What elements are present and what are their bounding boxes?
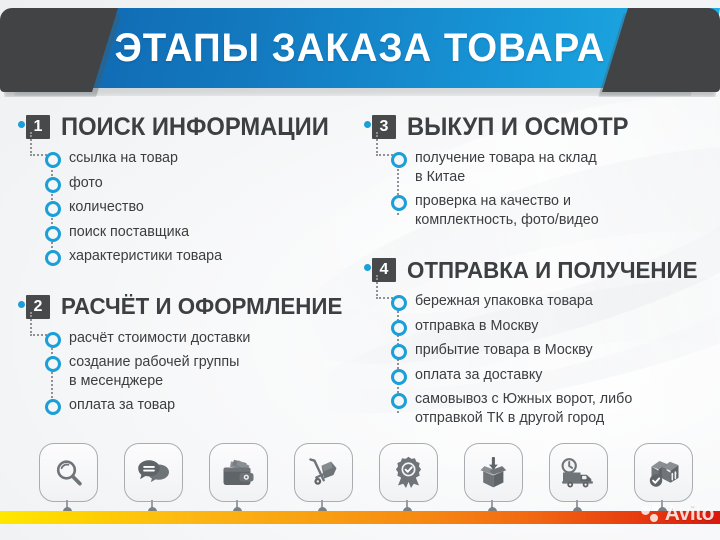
quality-badge-icon: [379, 443, 438, 502]
list-item-label: оплата за товар: [69, 397, 175, 413]
section-4-header: 4 ОТПРАВКА И ПОЛУЧЕНИЕ: [372, 255, 712, 285]
avito-watermark: Avito: [641, 503, 714, 524]
bullet-ring-icon: [391, 195, 407, 211]
section-2-number: 2: [26, 295, 50, 319]
gradient-timeline-bar: [0, 511, 720, 524]
list-item-label: прибытие товара в Москву: [415, 342, 593, 358]
bullet-ring-icon: [45, 332, 61, 348]
list-item: оплата за товар: [42, 396, 366, 415]
list-item-label: создание рабочей группы в месенджере: [69, 354, 239, 389]
section-2: 2 РАСЧЁТ И ОФОРМЛЕНИЕ расчёт стоимости д…: [26, 292, 366, 415]
section-3-number: 3: [372, 115, 396, 139]
list-item: характеристики товара: [42, 247, 366, 266]
hand-truck-icon: [294, 443, 353, 502]
list-item-label: ссылка на товар: [69, 150, 178, 166]
list-item: ссылка на товар: [42, 149, 366, 168]
lead-dot-icon: [364, 264, 371, 271]
list-item: поиск поставщика: [42, 223, 366, 242]
section-2-items: расчёт стоимости доставки создание рабоч…: [42, 329, 366, 415]
section-1-title: ПОИСК ИНФОРМАЦИИ: [61, 115, 329, 140]
magnifier-icon: [39, 443, 98, 502]
bullet-ring-icon: [45, 226, 61, 242]
list-item-label: оплата за доставку: [415, 367, 542, 383]
list-item-label: самовывоз с Южных ворот, либо отправкой …: [415, 391, 632, 426]
bullet-ring-icon: [391, 393, 407, 409]
lead-dot-icon: [18, 121, 25, 128]
section-2-title: РАСЧЁТ И ОФОРМЛЕНИЕ: [61, 294, 342, 319]
section-3: 3 ВЫКУП И ОСМОТР получение товара на скл…: [372, 112, 712, 229]
list-item: оплата за доставку: [388, 366, 712, 385]
lead-dot-icon: [364, 121, 371, 128]
section-4: 4 ОТПРАВКА И ПОЛУЧЕНИЕ бережная упаковка…: [372, 255, 712, 427]
section-4-title: ОТПРАВКА И ПОЛУЧЕНИЕ: [407, 258, 697, 283]
list-item-label: количество: [69, 199, 144, 215]
bullet-ring-icon: [391, 344, 407, 360]
section-2-header: 2 РАСЧЁТ И ОФОРМЛЕНИЕ: [26, 292, 366, 322]
section-1-items: ссылка на товар фото количество поиск по…: [42, 149, 366, 266]
boxes-check-icon: [634, 443, 693, 502]
list-item: отправка в Москву: [388, 317, 712, 336]
list-item: фото: [42, 174, 366, 193]
bullet-ring-icon: [391, 295, 407, 311]
section-1-header: 1 ПОИСК ИНФОРМАЦИИ: [26, 112, 366, 142]
list-item-label: фото: [69, 175, 103, 191]
bullet-ring-icon: [45, 177, 61, 193]
bullet-ring-icon: [391, 152, 407, 168]
list-item: количество: [42, 198, 366, 217]
section-4-number: 4: [372, 258, 396, 282]
chat-bubbles-icon: [124, 443, 183, 502]
list-item: самовывоз с Южных ворот, либо отправкой …: [388, 390, 712, 427]
list-item-label: расчёт стоимости доставки: [69, 330, 250, 346]
list-item: бережная упаковка товара: [388, 292, 712, 311]
box-packing-icon: [464, 443, 523, 502]
list-item: создание рабочей группы в месенджере: [42, 353, 366, 390]
section-3-header: 3 ВЫКУП И ОСМОТР: [372, 112, 712, 142]
wallet-icon: [209, 443, 268, 502]
avito-logo-icon: [641, 504, 663, 524]
section-1: 1 ПОИСК ИНФОРМАЦИИ ссылка на товар фото …: [26, 112, 366, 266]
right-column: 3 ВЫКУП И ОСМОТР получение товара на скл…: [372, 112, 712, 427]
list-item-label: получение товара на склад в Китае: [415, 150, 597, 185]
header-banner: ЭТАПЫ ЗАКАЗА ТОВАРА: [0, 8, 720, 94]
list-item-label: проверка на качество и комплектность, фо…: [415, 193, 599, 228]
page-title: ЭТАПЫ ЗАКАЗА ТОВАРА: [14, 8, 705, 88]
bullet-ring-icon: [391, 320, 407, 336]
section-1-number: 1: [26, 115, 50, 139]
process-icon-row: [0, 443, 720, 505]
section-3-title: ВЫКУП И ОСМОТР: [407, 115, 629, 140]
bullet-ring-icon: [45, 201, 61, 217]
list-item: прибытие товара в Москву: [388, 341, 712, 360]
list-item-label: поиск поставщика: [69, 224, 189, 240]
lead-dot-icon: [18, 301, 25, 308]
list-item: расчёт стоимости доставки: [42, 329, 366, 348]
list-item-label: характеристики товара: [69, 248, 222, 264]
bullet-ring-icon: [391, 369, 407, 385]
section-3-items: получение товара на склад в Китае провер…: [388, 149, 712, 229]
left-column: 1 ПОИСК ИНФОРМАЦИИ ссылка на товар фото …: [26, 112, 366, 415]
bullet-ring-icon: [45, 399, 61, 415]
infographic-poster: ЭТАПЫ ЗАКАЗА ТОВАРА 1 ПОИСК ИНФОРМАЦИИ с…: [0, 0, 720, 540]
bullet-ring-icon: [45, 356, 61, 372]
delivery-truck-clock-icon: [549, 443, 608, 502]
list-item: проверка на качество и комплектность, фо…: [388, 192, 712, 229]
avito-wordmark: Avito: [665, 503, 714, 524]
list-item-label: бережная упаковка товара: [415, 293, 593, 309]
section-4-items: бережная упаковка товара отправка в Моск…: [388, 292, 712, 427]
list-item: получение товара на склад в Китае: [388, 149, 712, 186]
bullet-ring-icon: [45, 250, 61, 266]
list-item-label: отправка в Москву: [415, 318, 538, 334]
bullet-ring-icon: [45, 152, 61, 168]
